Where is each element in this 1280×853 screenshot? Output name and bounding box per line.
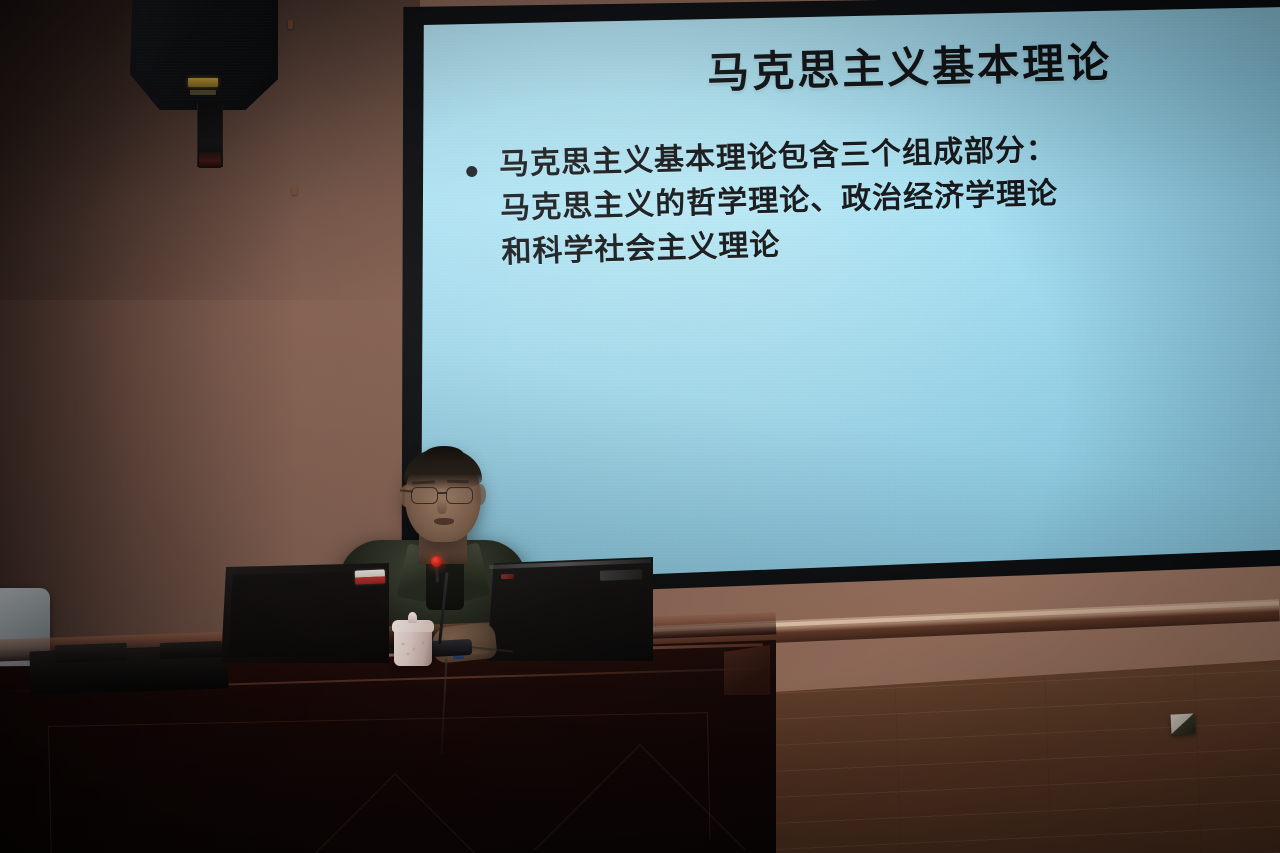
slide-bullet-text: 马克思主义基本理论包含三个组成部分： 马克思主义的哲学理论、政治经济学理论 和科… (499, 128, 1060, 275)
cup-pattern (398, 640, 428, 658)
cup-lid-knob (408, 612, 417, 623)
wall-fixture-screw (288, 20, 293, 29)
podium-equipment-module (160, 641, 223, 659)
speaker-brand-logo (188, 78, 218, 87)
bullet-point-icon (466, 166, 477, 177)
laptop-brand-logo (600, 569, 642, 580)
lecture-hall-photo: 马克思主义基本理论 马克思主义基本理论包含三个组成部分： 马克思主义的哲学理论、… (0, 0, 1280, 853)
laptop-left-sticker (355, 569, 386, 584)
nose (437, 498, 447, 514)
microphone-base (430, 639, 473, 657)
lecturer-hair-crown (424, 446, 464, 464)
laptop-logo-badge (501, 574, 514, 579)
microphone-indicator-light (431, 556, 442, 567)
eyeglasses-bridge (438, 492, 447, 494)
wall-fixture-screw (292, 186, 297, 195)
speaker-bracket-tip (199, 152, 221, 168)
eyeglasses-lens-left (411, 487, 438, 504)
mouth (434, 518, 454, 525)
slide-title: 马克思主义基本理论 (609, 36, 1210, 99)
slide-bullet-item: 马克思主义基本理论包含三个组成部分： 马克思主义的哲学理论、政治经济学理论 和科… (466, 123, 1269, 277)
podium-right-edge (724, 645, 770, 695)
small-white-box-on-floor (1170, 713, 1195, 734)
presentation-slide: 马克思主义基本理论 马克思主义基本理论包含三个组成部分： 马克思主义的哲学理论、… (390, 0, 1280, 626)
speaker-model-text (190, 90, 216, 95)
eyeglasses-lens-right (446, 487, 473, 504)
podium-equipment-module (55, 643, 128, 664)
ear-right (475, 484, 486, 505)
